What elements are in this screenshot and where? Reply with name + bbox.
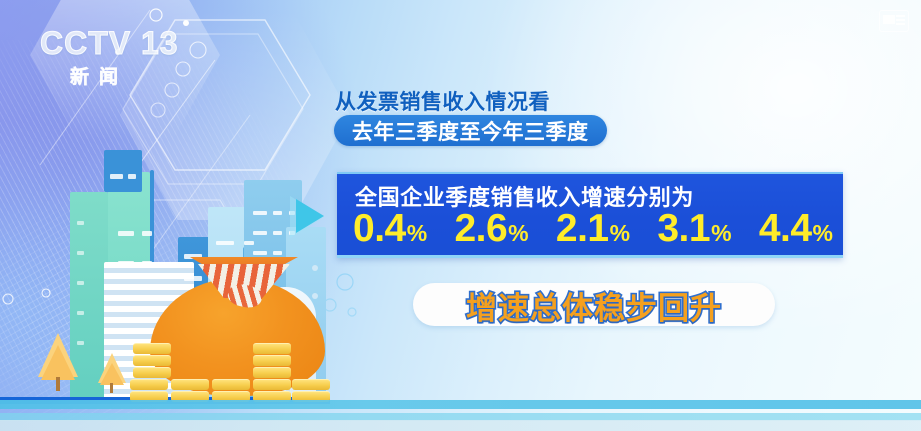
period-pill: 去年三季度至今年三季度 [334, 115, 607, 146]
floor-band-tertiary [0, 420, 921, 431]
channel-logo-sub: 新闻 [70, 62, 200, 89]
stat-value: 0.4 [353, 209, 406, 249]
stat-values-row: 0.4 % 2.6 % 2.1 % 3.1 % 4.4 % [353, 209, 833, 249]
conclusion-text: 增速总体稳步回升 [436, 284, 752, 326]
broadcast-graphic: CCTV 13 新闻 [0, 0, 921, 431]
right-arrow-icon [296, 199, 324, 233]
stat-unit: % [407, 221, 427, 245]
city-skyline-icon [0, 140, 370, 431]
stat-value-item: 0.4 % [353, 209, 427, 249]
stat-unit: % [813, 221, 833, 245]
stat-value-item: 2.6 % [454, 209, 528, 249]
stat-value-item: 4.4 % [759, 209, 833, 249]
screen-share-icon [879, 10, 909, 32]
stat-unit: % [711, 221, 731, 245]
channel-logo-main: CCTV 13 [40, 26, 200, 60]
floor-band-primary [0, 400, 921, 409]
building-top [104, 150, 142, 192]
stat-value: 2.1 [556, 209, 609, 249]
stat-value: 3.1 [657, 209, 710, 249]
headline-intro: 从发票销售收入情况看 [335, 86, 550, 116]
stat-value: 2.6 [454, 209, 507, 249]
stat-unit: % [610, 221, 630, 245]
stat-value-item: 2.1 % [556, 209, 630, 249]
channel-logo: CCTV 13 新闻 [40, 26, 200, 92]
stat-value: 4.4 [759, 209, 812, 249]
stat-value-item: 3.1 % [657, 209, 731, 249]
stat-unit: % [508, 221, 528, 245]
stat-box: 全国企业季度销售收入增速分别为 0.4 % 2.6 % 2.1 % 3.1 % … [337, 172, 843, 258]
